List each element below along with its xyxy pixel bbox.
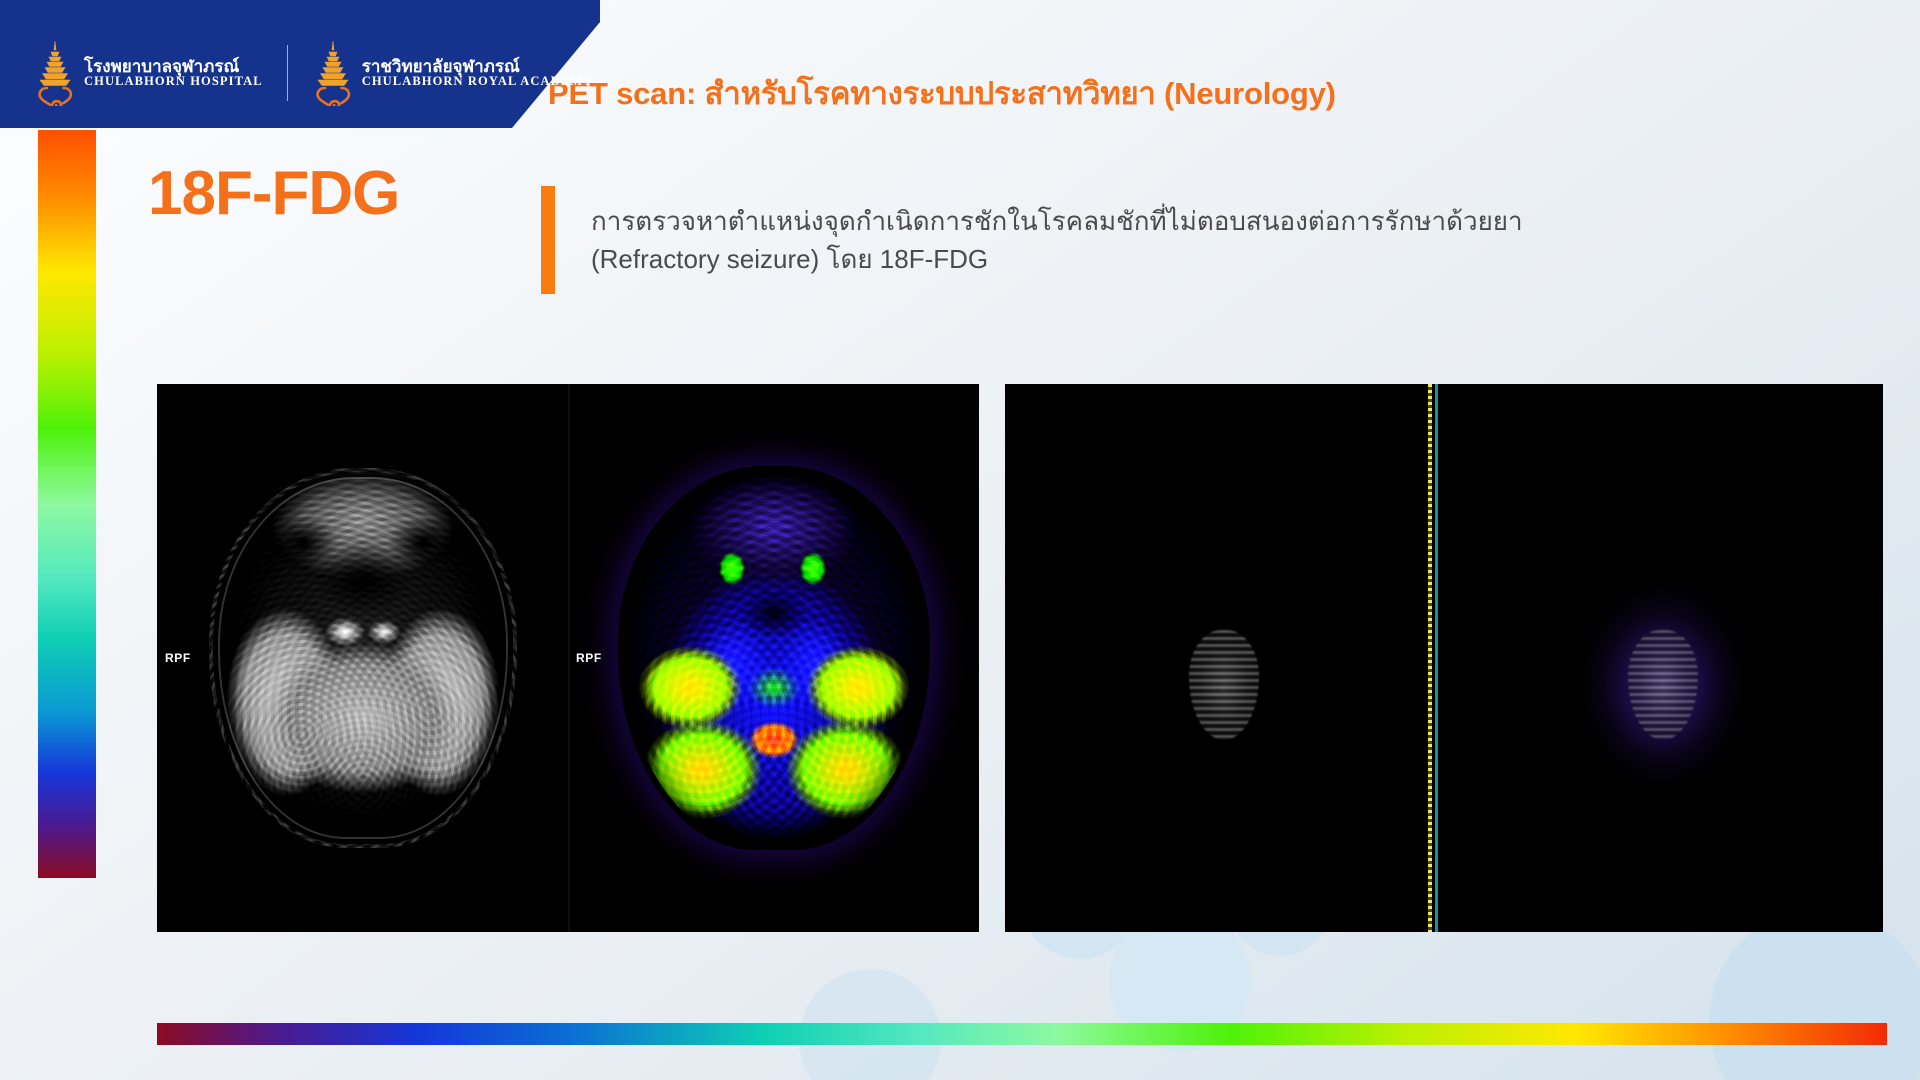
logo-divider — [287, 45, 288, 101]
subtitle-line-2: (Refractory seizure) โดย 18F-FDG — [591, 241, 1771, 279]
tracer-code-label: 18F-FDG — [148, 163, 399, 225]
logo-chulabhorn-hospital: โรงพยาบาลจุฬาภรณ์ CHULABHORN HOSPITAL — [34, 40, 263, 106]
scan-panel-pet-mr-fusion-brain[interactable]: RPF — [568, 384, 979, 932]
pagoda-logo-icon — [34, 40, 76, 106]
dotted-scale-line-icon — [1428, 384, 1432, 932]
panel-separator — [568, 384, 570, 932]
scan-panel-pet-grayscale-faint[interactable] — [1005, 384, 1443, 932]
scan-panel-pet-purple-glow[interactable] — [1443, 384, 1883, 932]
scan-group-left: RPF RPF — [157, 384, 979, 932]
orientation-label-rpf: RPF — [165, 651, 191, 665]
logo-chulabhorn-royal-academy: ราชวิทยาลัยจุฬาภรณ์ CHULABHORN ROYAL ACA… — [312, 40, 594, 106]
slide-title: PET scan: สำหรับโรคทางระบบประสาทวิทยา (N… — [548, 68, 1908, 118]
subtitle-line-1: การตรวจหาตำแหน่งจุดกำเนิดการชักในโรคลมชั… — [591, 203, 1771, 241]
pet-colormap-glow-image — [1558, 560, 1768, 810]
subtitle-text: การตรวจหาตำแหน่งจุดกำเนิดการชักในโรคลมชั… — [591, 203, 1771, 278]
horizontal-colorbar — [157, 1023, 1887, 1045]
pet-fusion-brain-image — [624, 472, 924, 844]
logo-thai-name: โรงพยาบาลจุฬาภรณ์ — [84, 58, 263, 76]
logo-english-name: CHULABHORN HOSPITAL — [84, 75, 263, 88]
teal-scale-line-icon — [1435, 384, 1438, 932]
panel-divider-strip — [1425, 384, 1443, 932]
subtitle-accent-rule — [541, 186, 555, 294]
logo-thai-name: ราชวิทยาลัยจุฬาภรณ์ — [362, 58, 594, 76]
logo-english-name: CHULABHORN ROYAL ACADEMY — [362, 75, 594, 88]
mri-brain-image — [213, 472, 513, 844]
pet-grayscale-structure — [1628, 630, 1698, 740]
orientation-label-rpf: RPF — [576, 651, 602, 665]
brand-logos: โรงพยาบาลจุฬาภรณ์ CHULABHORN HOSPITAL — [34, 40, 593, 106]
pagoda-logo-icon — [312, 40, 354, 106]
vertical-colorbar — [38, 130, 96, 878]
scan-panel-mri-axial-brain[interactable]: RPF — [157, 384, 568, 932]
presentation-slide: โรงพยาบาลจุฬาภรณ์ CHULABHORN HOSPITAL — [0, 0, 1920, 1080]
scan-group-right — [1005, 384, 1883, 932]
pet-grayscale-structure — [1189, 630, 1259, 740]
